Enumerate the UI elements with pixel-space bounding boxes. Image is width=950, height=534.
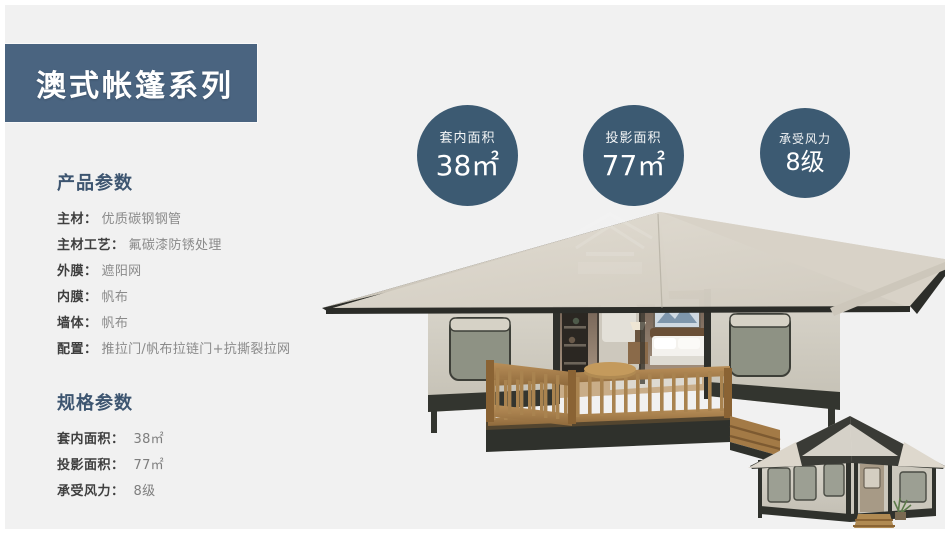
param-label: 外膜： (57, 259, 98, 285)
tent-exterior-illustration (740, 410, 950, 534)
param-value: 帆布 (102, 311, 129, 337)
list-item: 承受风力： 8级 (57, 479, 357, 505)
badge-value: 8级 (785, 150, 824, 174)
param-value: 优质碳钢钢管 (102, 207, 182, 233)
param-label: 配置： (57, 337, 98, 363)
param-label: 墙体： (57, 311, 98, 337)
param-value: 8级 (134, 479, 156, 505)
stat-badge-wind-resistance: 承受风力 8级 (760, 108, 850, 198)
param-label: 套内面积： (57, 427, 125, 453)
param-value: 38㎡ (134, 427, 164, 453)
param-value: 推拉门/帆布拉链门+抗撕裂拉网 (102, 337, 291, 363)
badge-value: 77㎡ (602, 152, 666, 180)
param-value: 77㎡ (134, 453, 164, 479)
param-label: 主材工艺： (57, 233, 125, 259)
badge-caption: 投影面积 (605, 132, 661, 145)
param-value: 氟碳漆防锈处理 (129, 233, 222, 259)
badge-caption: 套内面积 (439, 132, 495, 145)
param-label: 承受风力： (57, 479, 125, 505)
slide-canvas: 澳式帐篷系列 产品参数 主材： 优质碳钢钢管 主材工艺： 氟碳漆防锈处理 外膜：… (0, 0, 950, 534)
badge-caption: 承受风力 (779, 133, 831, 145)
param-label: 投影面积： (57, 453, 125, 479)
param-value: 遮阳网 (102, 259, 142, 285)
param-label: 内膜： (57, 285, 98, 311)
title-banner: 澳式帐篷系列 (0, 44, 257, 122)
badge-value: 38㎡ (436, 152, 500, 180)
param-value: 帆布 (102, 285, 129, 311)
inset-tent-exterior (740, 410, 950, 534)
param-label: 主材： (57, 207, 98, 233)
page-title: 澳式帐篷系列 (22, 61, 234, 105)
